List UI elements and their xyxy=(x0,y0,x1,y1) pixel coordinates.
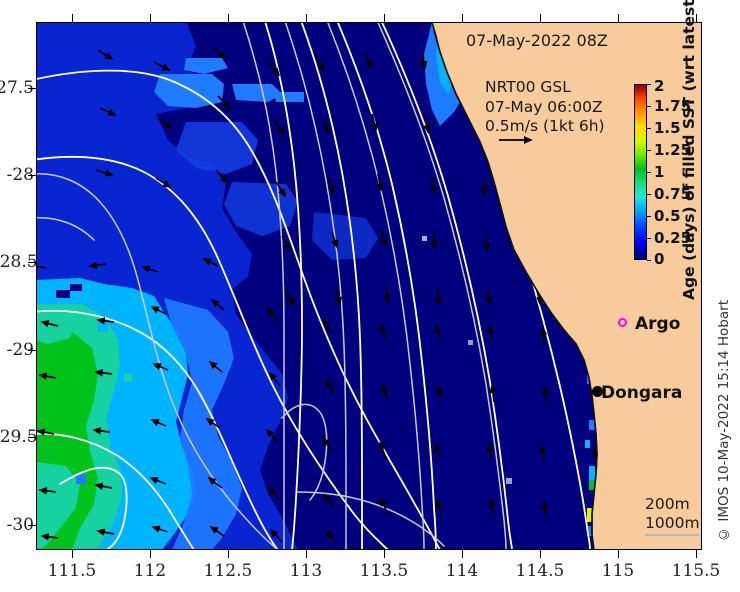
x-tick-label: 114.5 xyxy=(500,561,580,581)
x-tick-mark xyxy=(306,14,307,22)
colorbar-label: 2 xyxy=(654,77,664,95)
x-tick-label: 111.5 xyxy=(32,561,112,581)
colorbar-gradient xyxy=(634,84,647,260)
y-tick-mark xyxy=(28,350,36,351)
x-tick-mark xyxy=(540,14,541,22)
colorbar-tick xyxy=(647,106,651,107)
colorbar: 2 1.75 1.5 1.25 1 0.75 0.5 0.25 0 xyxy=(634,84,647,260)
depth-1000m-label: 1000m xyxy=(645,514,700,533)
x-tick-label: 114 xyxy=(422,561,502,581)
x-tick-mark xyxy=(618,14,619,22)
x-tick-mark xyxy=(462,550,463,558)
x-tick-mark xyxy=(228,550,229,558)
x-tick-mark xyxy=(696,14,697,22)
depth-legend-rule xyxy=(645,534,699,536)
y-tick-mark xyxy=(28,525,36,526)
colorbar-label: 1.5 xyxy=(654,119,681,137)
colorbar-title: Age (days) of filled SST (wrt latest) xyxy=(680,60,702,300)
argo-label: Argo xyxy=(635,314,680,334)
y-tick-mark xyxy=(28,175,36,176)
y-tick-mark xyxy=(28,262,36,263)
x-tick-mark xyxy=(306,550,307,558)
x-tick-mark xyxy=(72,550,73,558)
x-tick-label: 112 xyxy=(110,561,190,581)
x-tick-mark xyxy=(150,14,151,22)
x-tick-mark xyxy=(384,550,385,558)
colorbar-tick xyxy=(647,84,651,85)
colorbar-tick xyxy=(647,216,651,217)
x-tick-label: 115.5 xyxy=(656,561,736,581)
colorbar-tick xyxy=(647,238,651,239)
x-tick-mark xyxy=(696,550,697,558)
date-stamp: 07-May-2022 08Z xyxy=(466,31,608,50)
current-vector-scale-arrow-icon xyxy=(497,133,541,147)
colorbar-label: 0 xyxy=(654,250,664,268)
y-tick-mark xyxy=(28,88,36,89)
figure-canvas: 07-May-2022 08Z NRT00 GSL 07-May 06:00Z … xyxy=(0,0,740,592)
x-tick-label: 113.5 xyxy=(344,561,424,581)
x-tick-mark xyxy=(462,14,463,22)
x-tick-mark xyxy=(384,14,385,22)
colorbar-tick xyxy=(647,260,651,261)
colorbar-label: 1 xyxy=(654,163,664,181)
gsl-time-label: 07-May 06:00Z xyxy=(485,98,605,118)
x-tick-label: 113 xyxy=(266,561,346,581)
credit-text: © IMOS 10-May-2022 15:14 Hobart xyxy=(716,300,736,542)
x-tick-label: 112.5 xyxy=(188,561,268,581)
depth-200m-label: 200m xyxy=(645,495,700,514)
dongara-label: Dongara xyxy=(601,383,682,403)
colorbar-tick xyxy=(647,128,651,129)
colorbar-tick xyxy=(647,172,651,173)
colorbar-label: 0.5 xyxy=(654,207,681,225)
depth-contour-legend: 200m 1000m xyxy=(645,495,700,536)
colorbar-tick xyxy=(647,194,651,195)
x-tick-mark xyxy=(72,14,73,22)
x-tick-mark xyxy=(150,550,151,558)
argo-circle-marker[interactable] xyxy=(618,318,627,327)
x-tick-mark xyxy=(540,550,541,558)
x-tick-mark xyxy=(618,550,619,558)
x-tick-mark xyxy=(228,14,229,22)
gsl-annotation-block: NRT00 GSL 07-May 06:00Z 0.5m/s (1kt 6h) xyxy=(485,78,605,137)
x-tick-label: 115 xyxy=(578,561,658,581)
gsl-source-label: NRT00 GSL xyxy=(485,78,605,98)
colorbar-tick xyxy=(647,150,651,151)
y-tick-mark xyxy=(28,437,36,438)
